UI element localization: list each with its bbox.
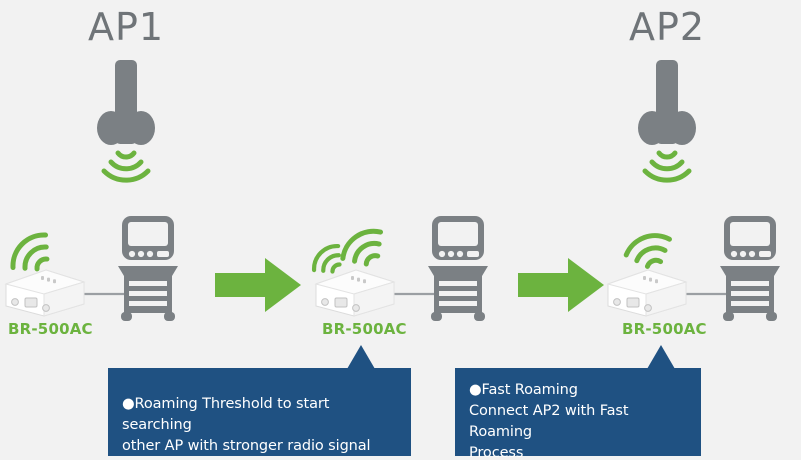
roaming-diagram: AP1 AP2 [0, 0, 801, 460]
wifi-access-point-icon [607, 58, 727, 188]
station-group-1: BR-500AC [0, 212, 200, 340]
medical-cart-icon [118, 216, 178, 321]
arrow-right-icon-1 [213, 256, 303, 319]
bridge-router-icon [316, 270, 394, 316]
arrow-right-icon-2 [516, 256, 606, 319]
station-2-label: BR-500AC [322, 320, 407, 338]
callout-1-text: ●Roaming Threshold to start searching ot… [122, 394, 401, 457]
station-3-label: BR-500AC [622, 320, 707, 338]
station-1-label: BR-500AC [8, 320, 93, 338]
callout-2-pointer [647, 345, 675, 369]
wifi-waves-right-icon [337, 224, 391, 273]
wifi-access-point-icon [66, 58, 186, 188]
callout-2-text: ●Fast Roaming Connect AP2 with Fast Roam… [469, 380, 691, 460]
medical-cart-icon [428, 216, 488, 321]
callout-1-pointer [347, 345, 375, 369]
bridge-router-icon [6, 270, 84, 316]
ap2-label: AP2 [607, 8, 727, 46]
medical-cart-icon [720, 216, 780, 321]
ap1-label: AP1 [66, 8, 186, 46]
station-group-2: BR-500AC [310, 212, 510, 340]
access-point-ap2: AP2 [607, 8, 727, 188]
bridge-router-icon [608, 270, 686, 316]
callout-roaming-threshold: ●Roaming Threshold to start searching ot… [108, 368, 411, 456]
station-group-3: BR-500AC [602, 212, 801, 340]
access-point-ap1: AP1 [66, 8, 186, 188]
callout-fast-roaming: ●Fast Roaming Connect AP2 with Fast Roam… [455, 368, 701, 456]
wifi-waves-right-icon [623, 230, 676, 272]
